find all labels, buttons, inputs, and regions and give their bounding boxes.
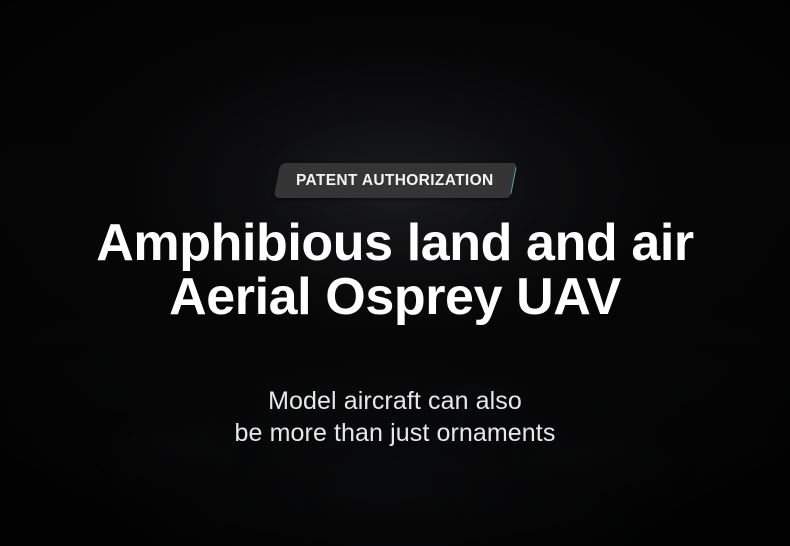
page-subtitle: Model aircraft can also be more than jus… <box>235 385 556 450</box>
page-title: Amphibious land and air Aerial Osprey UA… <box>96 216 694 324</box>
page-subtitle-line-1: Model aircraft can also <box>235 385 556 418</box>
page-title-line-1: Amphibious land and air <box>96 216 694 270</box>
page-title-line-2: Aerial Osprey UAV <box>96 270 694 324</box>
badge-label: PATENT AUTHORIZATION <box>296 173 494 189</box>
product-hero-banner: PATENT AUTHORIZATION Amphibious land and… <box>0 0 790 546</box>
status-badge: PATENT AUTHORIZATION <box>277 163 513 198</box>
banner-content: PATENT AUTHORIZATION Amphibious land and… <box>0 0 790 546</box>
badge-body: PATENT AUTHORIZATION <box>274 163 516 198</box>
page-subtitle-line-2: be more than just ornaments <box>235 417 556 450</box>
